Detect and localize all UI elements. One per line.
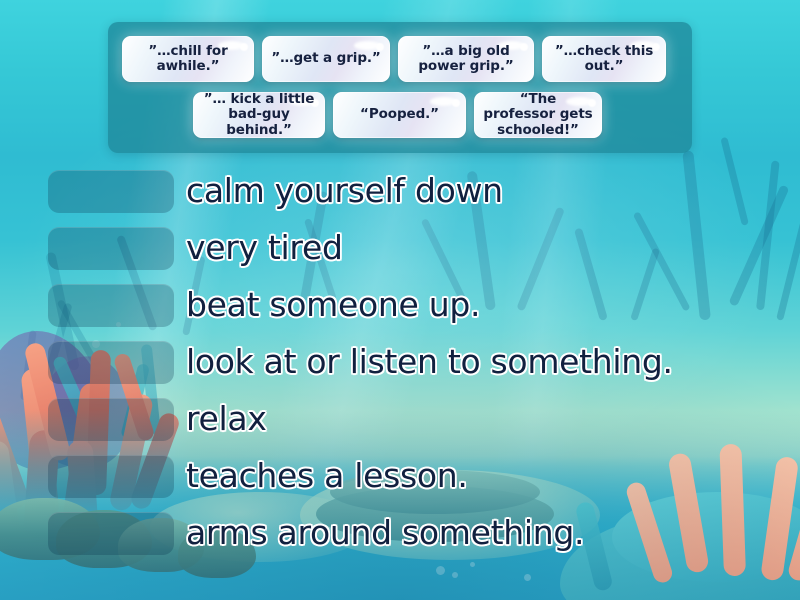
answer-card[interactable]: ”…get a grip.” [262,36,390,82]
drop-slot[interactable] [48,341,174,384]
activity-canvas: ”…chill for awhile.” ”…get a grip.” ”…a … [0,0,800,600]
answer-card[interactable]: “Pooped.” [333,92,466,138]
definition-prompt-list: calm yourself down very tired beat someo… [186,162,800,561]
definition-line: calm yourself down [186,162,800,219]
definition-line: relax [186,390,800,447]
answer-card-label: ”…get a grip.” [262,51,389,66]
drop-slot[interactable] [48,284,174,327]
answer-card-label: ”…chill for awhile.” [122,44,254,74]
answer-card[interactable]: ”…chill for awhile.” [122,36,254,82]
answer-card-label: ”…check this out.” [542,44,666,74]
answer-card-label: ”…a big old power grip.” [398,44,534,74]
answer-card-label: “The professor gets schooled!” [474,92,602,137]
answer-card[interactable]: ”…check this out.” [542,36,666,82]
card-row-1: ”…chill for awhile.” ”…get a grip.” ”…a … [122,36,666,82]
answer-card-label: “Pooped.” [351,107,448,122]
drop-slot[interactable] [48,170,174,213]
definition-line: teaches a lesson. [186,447,800,504]
definition-line: arms around something. [186,504,800,561]
answer-card[interactable]: ”…a big old power grip.” [398,36,534,82]
drop-slot[interactable] [48,227,174,270]
definition-line: very tired [186,219,800,276]
drop-slot[interactable] [48,398,174,441]
answer-card-tray: ”…chill for awhile.” ”…get a grip.” ”…a … [108,22,692,153]
card-highlight-icon [452,99,460,107]
card-row-2: ”… kick a little bad-guy behind.” “Poope… [193,92,602,138]
answer-card[interactable]: ”… kick a little bad-guy behind.” [193,92,325,138]
drop-slot[interactable] [48,455,174,498]
drop-slot[interactable] [48,512,174,555]
definition-line: look at or listen to something. [186,333,800,390]
definition-line: beat someone up. [186,276,800,333]
answer-card[interactable]: “The professor gets schooled!” [474,92,602,138]
answer-card-label: ”… kick a little bad-guy behind.” [193,92,325,137]
